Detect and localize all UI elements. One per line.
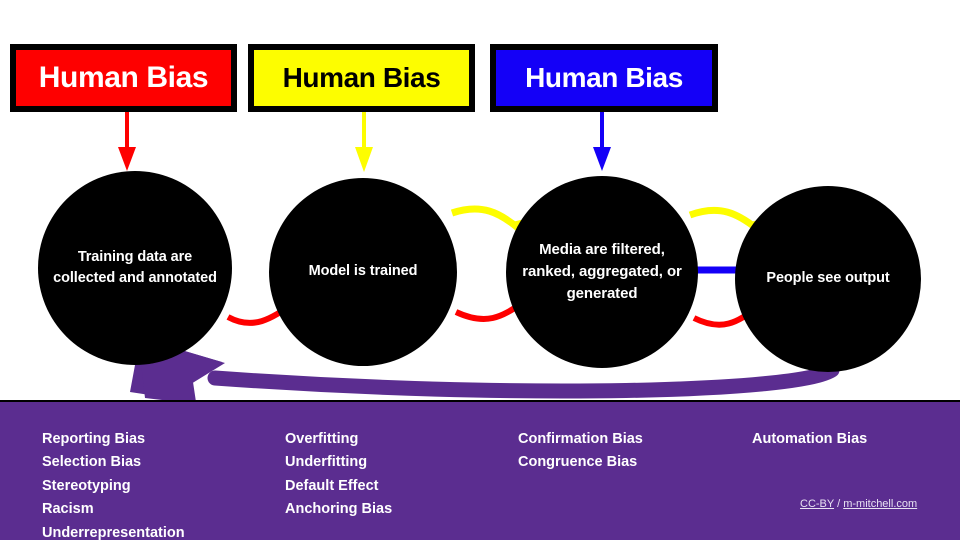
bias-list-column-media: Confirmation Bias Congruence Bias [518,428,643,475]
human-bias-box-red-label: Human Bias [39,61,208,95]
pipeline-node-model-trained[interactable]: Model is trained [269,178,457,366]
bias-list-item: Default Effect [285,475,392,498]
bias-list-item: Anchoring Bias [285,498,392,521]
author-site-link[interactable]: m-mitchell.com [843,498,917,510]
bias-list-item: Underrepresentation [42,522,185,540]
pipeline-node-training-data-label: Training data are collected and annotate… [52,247,219,289]
human-bias-box-yellow[interactable]: Human Bias [248,44,475,112]
human-bias-box-yellow-label: Human Bias [283,62,441,94]
bias-feedback-loop-diagram: Human Bias Human Bias Human Bias Trainin… [0,0,960,540]
bias-list-item: Stereotyping [42,475,185,498]
pipeline-node-media-filtered[interactable]: Media are filtered, ranked, aggregated, … [506,176,698,368]
bias-list-item: Confirmation Bias [518,428,643,451]
bias-list-item: Automation Bias [752,428,867,451]
bias-list-item: Selection Bias [42,451,185,474]
bias-list-column-people: Automation Bias [752,428,867,451]
bias-list-item: Underfitting [285,451,392,474]
bias-list-item: Racism [42,498,185,521]
pipeline-node-model-trained-label: Model is trained [282,261,444,282]
attribution: CC-BY / m-mitchell.com [800,498,917,510]
edge-red-box-to-node1 [118,112,136,171]
bias-list-column-model: Overfitting Underfitting Default Effect … [285,428,392,522]
pipeline-node-people-see-output-label: People see output [748,268,908,289]
edge-blue-box-to-node3 [593,112,611,171]
edge-yellow-box-to-node2 [355,112,373,172]
bias-list-item: Overfitting [285,428,392,451]
bias-list-item: Congruence Bias [518,451,643,474]
attribution-separator: / [834,498,843,510]
edge-feedback-purple [130,337,832,404]
license-link[interactable]: CC-BY [800,498,834,510]
human-bias-box-blue[interactable]: Human Bias [490,44,718,112]
human-bias-box-red[interactable]: Human Bias [10,44,237,112]
bias-list-item: Reporting Bias [42,428,185,451]
bias-list-column-data: Reporting Bias Selection Bias Stereotypi… [42,428,185,540]
pipeline-node-media-filtered-label: Media are filtered, ranked, aggregated, … [519,239,684,304]
human-bias-box-blue-label: Human Bias [525,62,683,94]
pipeline-node-training-data[interactable]: Training data are collected and annotate… [38,171,232,365]
pipeline-node-people-see-output[interactable]: People see output [735,186,921,372]
